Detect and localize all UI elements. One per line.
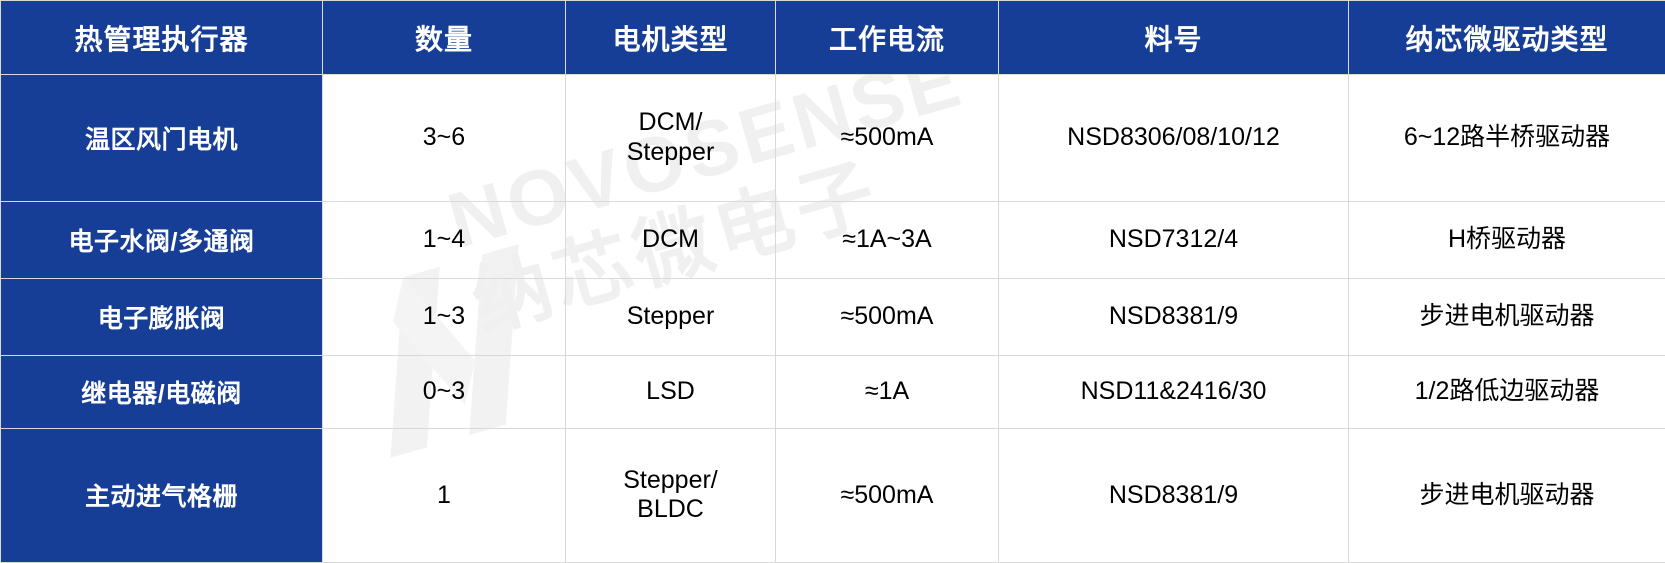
cell-motor-type: Stepper/ BLDC [566, 428, 776, 562]
row-header-actuator: 电子水阀/多通阀 [1, 201, 323, 278]
row-header-actuator: 温区风门电机 [1, 75, 323, 202]
cell-current: ≈500mA [776, 278, 999, 355]
header-row: 热管理执行器 数量 电机类型 工作电流 料号 纳芯微驱动类型 [1, 1, 1665, 75]
row-header-actuator: 电子膨胀阀 [1, 278, 323, 355]
column-header-quantity: 数量 [323, 1, 566, 75]
cell-driver-type: 步进电机驱动器 [1349, 278, 1665, 355]
cell-motor-type: Stepper [566, 278, 776, 355]
cell-part-number: NSD8306/08/10/12 [999, 75, 1349, 202]
cell-motor-type-line: DCM [572, 225, 769, 255]
cell-quantity: 1~4 [323, 201, 566, 278]
cell-current: ≈500mA [776, 75, 999, 202]
cell-part-number: NSD8381/9 [999, 278, 1349, 355]
thermal-actuator-table: 热管理执行器 数量 电机类型 工作电流 料号 纳芯微驱动类型 温区风门电机 3~… [0, 0, 1665, 563]
cell-motor-type-line: LSD [572, 377, 769, 407]
cell-quantity: 0~3 [323, 355, 566, 428]
table-row: 继电器/电磁阀 0~3 LSD ≈1A NSD11&2416/30 1/2路低边… [1, 355, 1665, 428]
cell-motor-type-line: Stepper [572, 302, 769, 332]
table-body: 温区风门电机 3~6 DCM/ Stepper ≈500mA NSD8306/0… [1, 75, 1665, 563]
cell-motor-type: DCM [566, 201, 776, 278]
column-header-driver-type: 纳芯微驱动类型 [1349, 1, 1665, 75]
column-header-actuator: 热管理执行器 [1, 1, 323, 75]
cell-current: ≈500mA [776, 428, 999, 562]
cell-part-number: NSD7312/4 [999, 201, 1349, 278]
row-header-actuator: 主动进气格栅 [1, 428, 323, 562]
cell-motor-type-line: DCM/ [572, 108, 769, 138]
cell-quantity: 1 [323, 428, 566, 562]
row-header-actuator: 继电器/电磁阀 [1, 355, 323, 428]
cell-motor-type: LSD [566, 355, 776, 428]
column-header-motor-type: 电机类型 [566, 1, 776, 75]
table-row: 温区风门电机 3~6 DCM/ Stepper ≈500mA NSD8306/0… [1, 75, 1665, 202]
cell-driver-type: H桥驱动器 [1349, 201, 1665, 278]
cell-driver-type: 步进电机驱动器 [1349, 428, 1665, 562]
table-row: 主动进气格栅 1 Stepper/ BLDC ≈500mA NSD8381/9 … [1, 428, 1665, 562]
table-row: 电子水阀/多通阀 1~4 DCM ≈1A~3A NSD7312/4 H桥驱动器 [1, 201, 1665, 278]
cell-driver-type: 6~12路半桥驱动器 [1349, 75, 1665, 202]
cell-motor-type-line: Stepper [572, 138, 769, 168]
cell-motor-type-line: BLDC [572, 495, 769, 525]
cell-current: ≈1A~3A [776, 201, 999, 278]
cell-part-number: NSD11&2416/30 [999, 355, 1349, 428]
column-header-part-number: 料号 [999, 1, 1349, 75]
table-row: 电子膨胀阀 1~3 Stepper ≈500mA NSD8381/9 步进电机驱… [1, 278, 1665, 355]
cell-quantity: 1~3 [323, 278, 566, 355]
cell-current: ≈1A [776, 355, 999, 428]
cell-driver-type: 1/2路低边驱动器 [1349, 355, 1665, 428]
table-screenshot-root: NOVOSENSE 纳芯微电子 热管理执行器 数量 电机类型 工作电流 料号 纳… [0, 0, 1665, 563]
cell-motor-type: DCM/ Stepper [566, 75, 776, 202]
cell-quantity: 3~6 [323, 75, 566, 202]
cell-motor-type-line: Stepper/ [572, 466, 769, 496]
column-header-current: 工作电流 [776, 1, 999, 75]
table-header: 热管理执行器 数量 电机类型 工作电流 料号 纳芯微驱动类型 [1, 1, 1665, 75]
cell-part-number: NSD8381/9 [999, 428, 1349, 562]
